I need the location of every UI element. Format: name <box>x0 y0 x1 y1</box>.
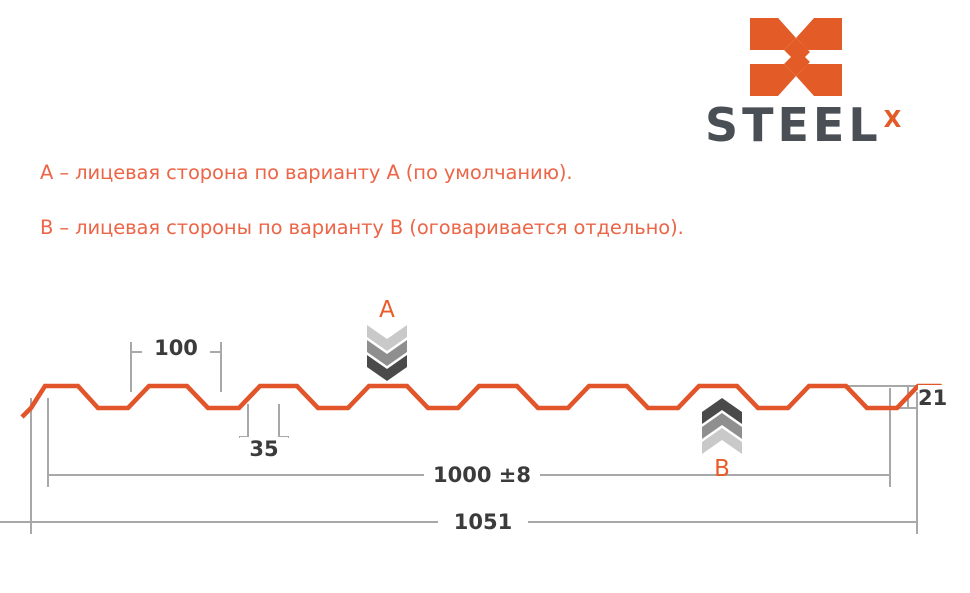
dimension-label-total-width: 1051 <box>438 509 528 535</box>
dimension-label-rib-pitch: 100 <box>142 336 210 360</box>
side-b-marker: B <box>694 398 750 484</box>
side-a-letter: A <box>359 297 415 323</box>
dimension-label-profile-height: 21 <box>918 385 954 411</box>
drawing-page: STEELX A – лицевая сторона по варианту A… <box>0 0 970 593</box>
chevron-down-icon <box>367 325 407 381</box>
chevron-up-icon <box>702 398 742 454</box>
side-a-marker: A <box>359 297 415 383</box>
profile-drawing <box>0 0 970 593</box>
dimension-label-effective-width: 1000 ±8 <box>424 462 540 488</box>
dimension-lines <box>0 342 917 534</box>
sheet-profile-polyline <box>22 386 947 417</box>
dimension-label-valley-width: 35 <box>240 437 288 461</box>
side-b-letter: B <box>694 456 750 482</box>
